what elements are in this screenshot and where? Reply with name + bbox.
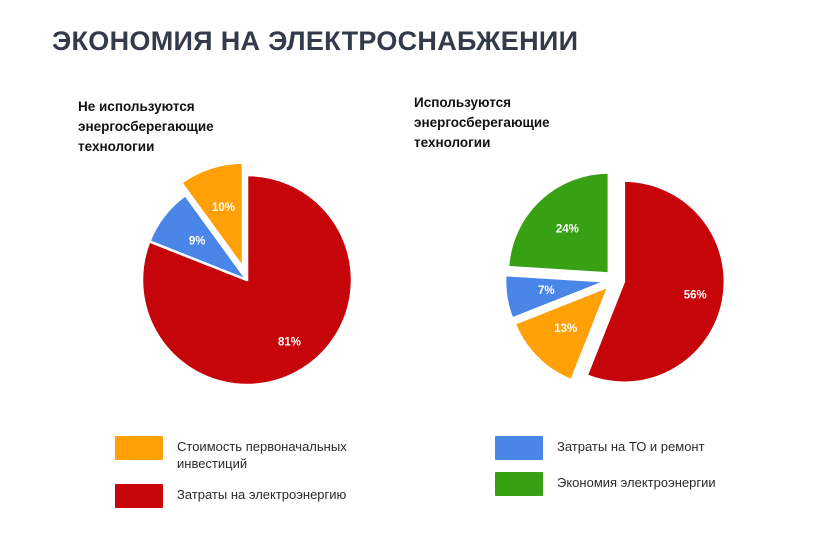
legend-item-label: Затраты на электроэнергию	[177, 484, 346, 503]
chart-subtitle-right: Используются энергосберегающие технологи…	[414, 93, 644, 153]
legend-swatch-electricity-cost-icon	[115, 484, 163, 508]
slide-canvas: ЭКОНОМИЯ НА ЭЛЕКТРОСНАБЖЕНИИ Не использу…	[0, 0, 833, 545]
pie-slice-value-label: 81%	[278, 337, 301, 349]
pie-chart-with-energy-saving: 56%13%7%24%	[495, 145, 740, 405]
pie-slice-value-label: 9%	[189, 235, 206, 247]
legend-item-electricity-savings[interactable]: Экономия электроэнергии	[495, 472, 755, 496]
pie-slice-value-label: 10%	[212, 202, 235, 214]
legend-item-maintenance-repair-cost[interactable]: Затраты на ТО и ремонт	[495, 436, 755, 460]
legend-item-initial-investment-cost[interactable]: Стоимость первоначальных инвестиций	[115, 436, 385, 472]
legend-item-label: Стоимость первоначальных инвестиций	[177, 436, 347, 472]
page-title: ЭКОНОМИЯ НА ЭЛЕКТРОСНАБЖЕНИИ	[52, 26, 578, 57]
pie-chart-no-energy-saving-svg: 81%9%10%	[130, 160, 370, 400]
legend-swatch-electricity-savings-icon	[495, 472, 543, 496]
pie-chart-with-energy-saving-svg: 56%13%7%24%	[495, 145, 740, 405]
legend-item-label: Затраты на ТО и ремонт	[557, 436, 705, 455]
pie-slice-value-label: 56%	[684, 289, 707, 301]
chart-subtitle-left: Не используются энергосберегающие технол…	[78, 97, 308, 157]
pie-slice-value-label: 13%	[554, 323, 577, 335]
pie-slice-value-label: 7%	[538, 285, 555, 297]
legend-item-label: Экономия электроэнергии	[557, 472, 716, 491]
legend-item-electricity-cost[interactable]: Затраты на электроэнергию	[115, 484, 385, 508]
pie-chart-no-energy-saving: 81%9%10%	[130, 160, 370, 400]
legend-swatch-initial-investment-cost-icon	[115, 436, 163, 460]
pie-slice-value-label: 24%	[556, 223, 579, 235]
legend-left: Стоимость первоначальных инвестиций Затр…	[115, 436, 385, 508]
legend-swatch-maintenance-repair-cost-icon	[495, 436, 543, 460]
legend-right: Затраты на ТО и ремонт Экономия электроэ…	[495, 436, 755, 496]
